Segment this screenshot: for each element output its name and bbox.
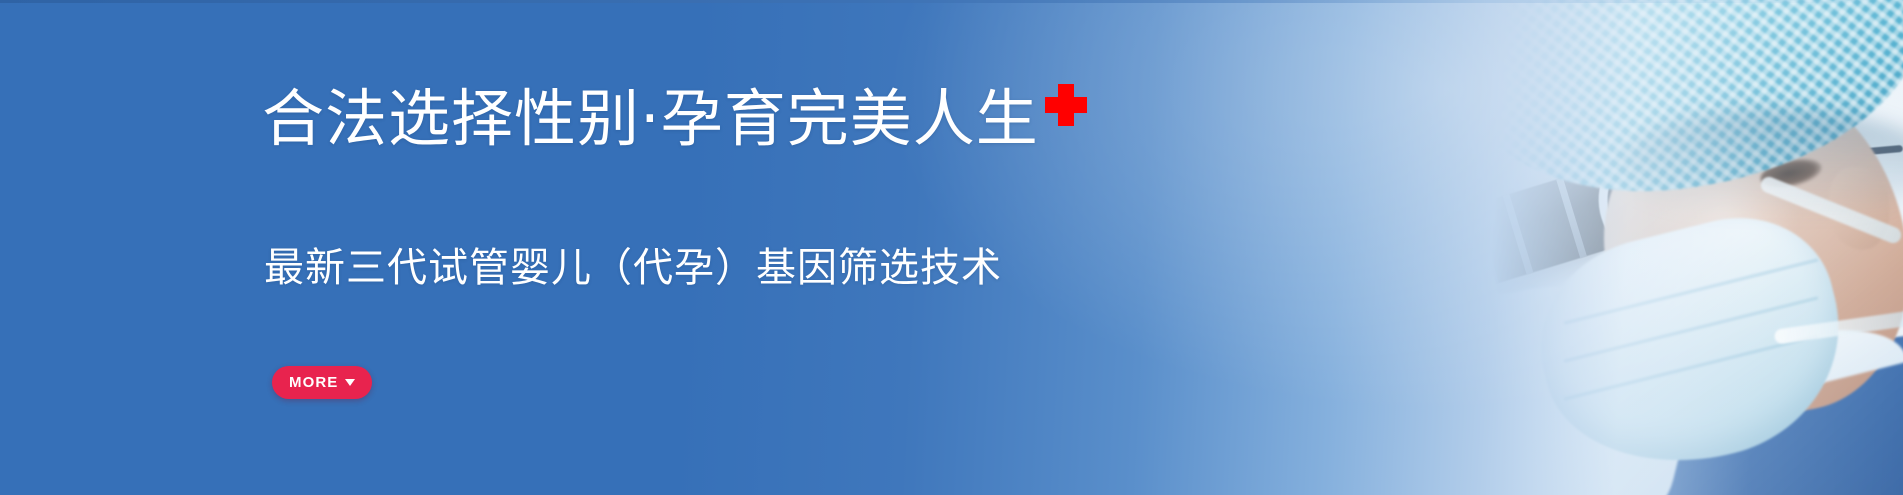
caret-down-icon — [345, 379, 355, 386]
more-button[interactable]: MORE — [272, 366, 372, 399]
banner-headline: 合法选择性别·孕育完美人生 — [262, 88, 1087, 150]
hero-banner: 合法选择性别·孕育完美人生 最新三代试管婴儿（代孕）基因筛选技术 MORE — [0, 0, 1903, 495]
doctor-icon — [1498, 0, 1903, 495]
red-cross-icon — [1045, 84, 1087, 126]
banner-headline-text: 合法选择性别·孕育完美人生 — [262, 82, 1039, 155]
banner-subheadline: 最新三代试管婴儿（代孕）基因筛选技术 — [264, 248, 1002, 288]
banner-content: 合法选择性别·孕育完美人生 最新三代试管婴儿（代孕）基因筛选技术 MORE — [262, 0, 1462, 495]
more-button-label: MORE — [289, 374, 338, 391]
